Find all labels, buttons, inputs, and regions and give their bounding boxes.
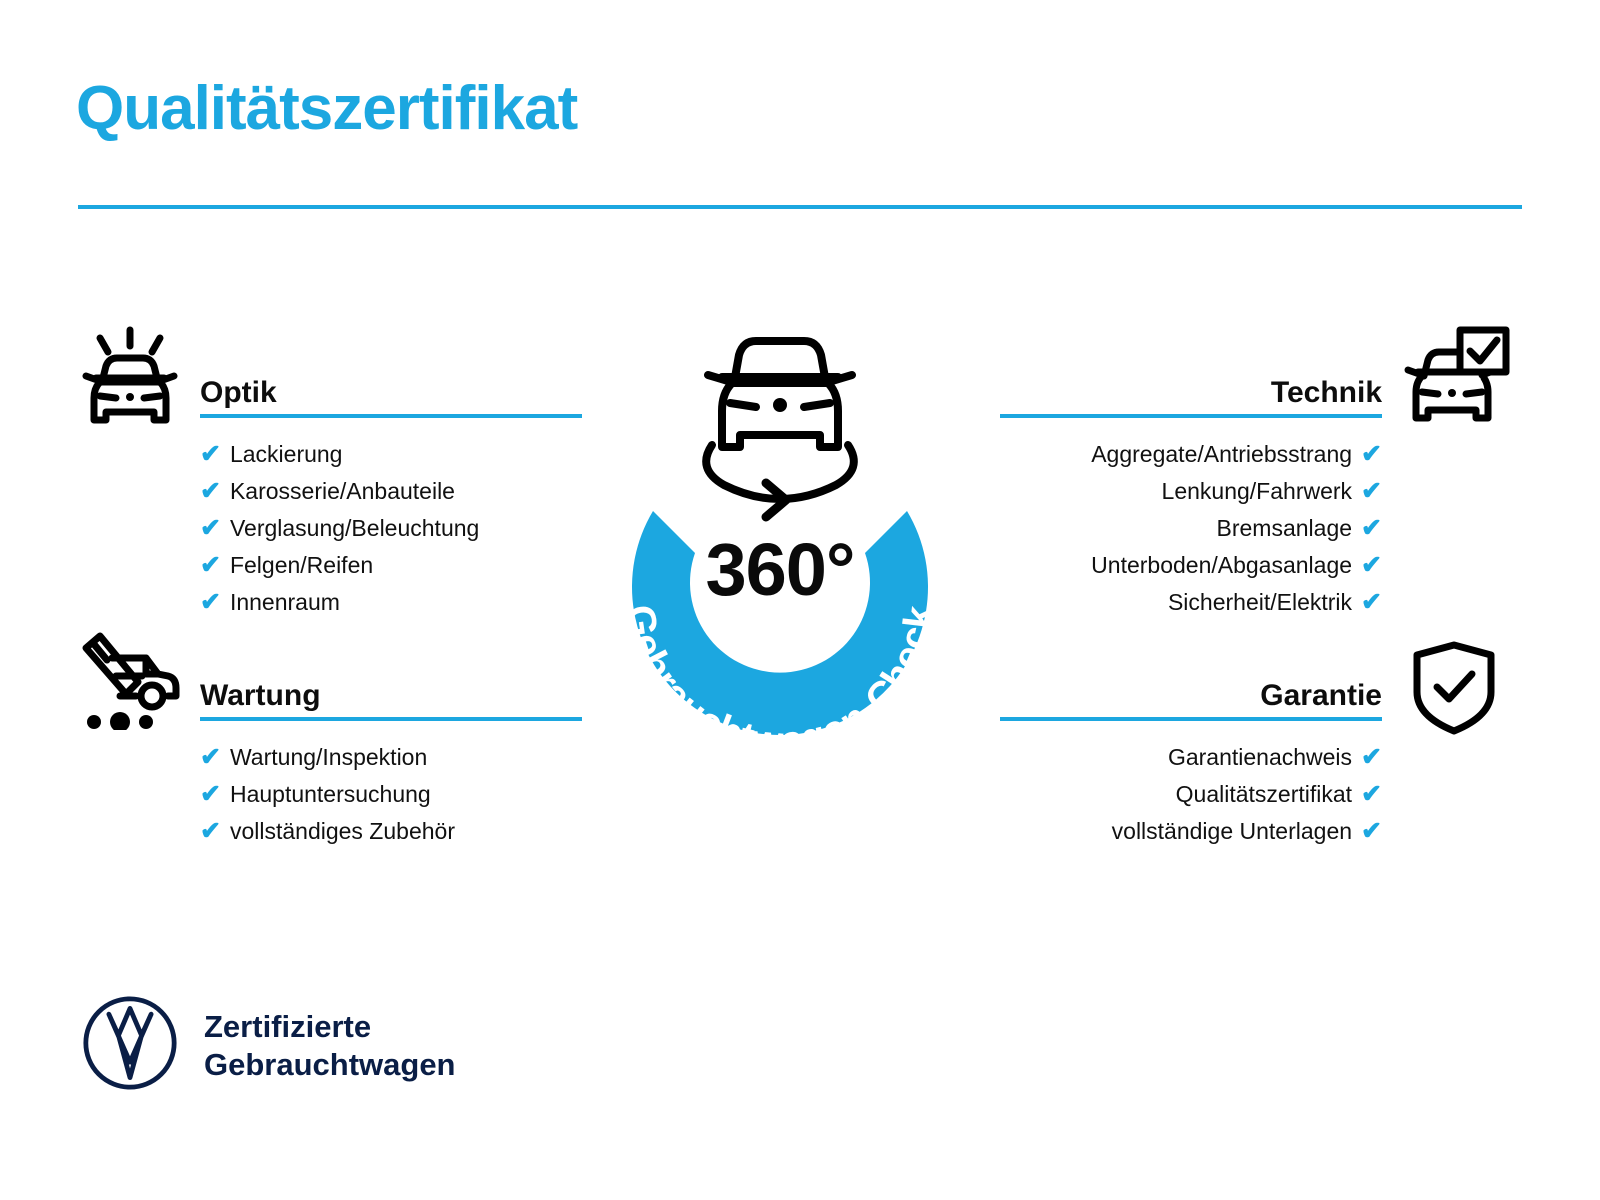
check-icon: ✔ [1361, 739, 1382, 776]
section-technik-rule [1000, 414, 1382, 418]
list-item-label: Karosserie/Anbauteile [230, 473, 455, 510]
section-wartung-rule [200, 717, 582, 721]
check-icon: ✔ [1361, 584, 1382, 621]
list-item: ✔ vollständiges Zubehör [200, 813, 582, 850]
section-optik-header: Optik [200, 360, 582, 418]
check-icon: ✔ [200, 584, 221, 621]
list-item: ✔ Felgen/Reifen [200, 547, 582, 584]
check-icon: ✔ [200, 776, 221, 813]
brand-lockup: Zertifizierte Gebrauchtwagen [82, 995, 456, 1096]
list-item: ✔ Verglasung/Beleuchtung [200, 510, 582, 547]
list-item-label: Sicherheit/Elektrik [1168, 584, 1352, 621]
list-item: ✔ Wartung/Inspektion [200, 739, 582, 776]
list-item-label: Aggregate/Antriebsstrang [1091, 436, 1352, 473]
shield-check-icon [1408, 640, 1500, 741]
section-technik: Technik Aggregate/Antriebsstrang ✔ Lenku… [1000, 360, 1382, 621]
list-item-label: Lackierung [230, 436, 343, 473]
car-rotate-icon [706, 341, 854, 517]
section-wartung: Wartung ✔ Wartung/Inspektion ✔ Hauptunte… [200, 663, 582, 850]
section-optik-title: Optik [200, 376, 277, 410]
section-garantie-title: Garantie [1260, 679, 1382, 713]
check-icon: ✔ [200, 547, 221, 584]
list-item: Qualitätszertifikat ✔ [1000, 776, 1382, 813]
section-technik-list: Aggregate/Antriebsstrang ✔ Lenkung/Fahrw… [1000, 436, 1382, 621]
list-item-label: Unterboden/Abgasanlage [1091, 547, 1352, 584]
section-technik-title: Technik [1271, 376, 1382, 410]
gebrauchtwagen-check-badge: Gebrauchtwagen-Check 360° [555, 305, 1005, 785]
check-icon: ✔ [1361, 510, 1382, 547]
list-item: ✔ Karosserie/Anbauteile [200, 473, 582, 510]
list-item-label: Innenraum [230, 584, 340, 621]
list-item-label: Felgen/Reifen [230, 547, 373, 584]
section-wartung-header: Wartung [200, 663, 582, 721]
check-icon: ✔ [200, 510, 221, 547]
title-divider [78, 205, 1522, 209]
list-item-label: Wartung/Inspektion [230, 739, 427, 776]
section-wartung-list: ✔ Wartung/Inspektion ✔ Hauptuntersuchung… [200, 739, 582, 850]
section-optik: Optik ✔ Lackierung ✔ Karosserie/Anbautei… [200, 360, 582, 621]
list-item-label: vollständige Unterlagen [1112, 813, 1352, 850]
list-item-label: Qualitätszertifikat [1176, 776, 1352, 813]
section-wartung-title: Wartung [200, 679, 321, 713]
car-checkbox-icon [1398, 326, 1510, 435]
check-icon: ✔ [1361, 436, 1382, 473]
list-item: ✔ Lackierung [200, 436, 582, 473]
check-icon: ✔ [200, 436, 221, 473]
check-icon: ✔ [1361, 473, 1382, 510]
list-item: vollständige Unterlagen ✔ [1000, 813, 1382, 850]
brand-wordmark: Zertifizierte Gebrauchtwagen [204, 1008, 456, 1084]
section-garantie: Garantie Garantienachweis ✔ Qualitätszer… [1000, 663, 1382, 850]
section-technik-header: Technik [1000, 360, 1382, 418]
list-item: Sicherheit/Elektrik ✔ [1000, 584, 1382, 621]
section-optik-rule [200, 414, 582, 418]
section-garantie-rule [1000, 717, 1382, 721]
check-icon: ✔ [1361, 776, 1382, 813]
list-item-label: Bremsanlage [1217, 510, 1353, 547]
list-item: Unterboden/Abgasanlage ✔ [1000, 547, 1382, 584]
car-shine-icon [76, 326, 184, 435]
list-item: ✔ Innenraum [200, 584, 582, 621]
list-item-label: Lenkung/Fahrwerk [1162, 473, 1353, 510]
check-icon: ✔ [200, 473, 221, 510]
section-garantie-header: Garantie [1000, 663, 1382, 721]
page-title: Qualitätszertifikat [76, 78, 577, 140]
volkswagen-logo [82, 995, 178, 1096]
check-icon: ✔ [1361, 813, 1382, 850]
check-icon: ✔ [200, 739, 221, 776]
list-item-label: Hauptuntersuchung [230, 776, 431, 813]
service-book-pen-car-icon [76, 630, 184, 735]
section-optik-list: ✔ Lackierung ✔ Karosserie/Anbauteile ✔ V… [200, 436, 582, 621]
list-item: Garantienachweis ✔ [1000, 739, 1382, 776]
list-item: Bremsanlage ✔ [1000, 510, 1382, 547]
list-item: Aggregate/Antriebsstrang ✔ [1000, 436, 1382, 473]
check-icon: ✔ [200, 813, 221, 850]
list-item-label: Verglasung/Beleuchtung [230, 510, 479, 547]
list-item: Lenkung/Fahrwerk ✔ [1000, 473, 1382, 510]
check-icon: ✔ [1361, 547, 1382, 584]
list-item: ✔ Hauptuntersuchung [200, 776, 582, 813]
list-item-label: Garantienachweis [1168, 739, 1352, 776]
section-garantie-list: Garantienachweis ✔ Qualitätszertifikat ✔… [1000, 739, 1382, 850]
badge-value: 360° [555, 527, 1005, 612]
list-item-label: vollständiges Zubehör [230, 813, 455, 850]
